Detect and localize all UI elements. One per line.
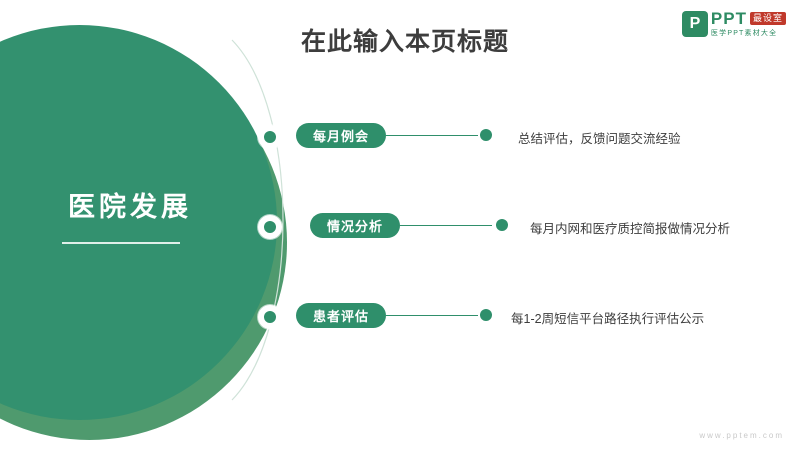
endpoint-dot-icon: [480, 309, 492, 321]
node-marker-icon: [258, 125, 282, 149]
item-description: 每1-2周短信平台路径执行评估公示: [511, 308, 704, 327]
item-pill-label[interactable]: 患者评估: [296, 303, 386, 328]
item-description: 总结评估，反馈问题交流经验: [518, 128, 681, 147]
hero-label: 医院发展: [20, 185, 240, 224]
node-marker-icon: [258, 305, 282, 329]
logo-mark-icon: P: [682, 11, 708, 37]
hero-underline: [62, 242, 180, 244]
footer-watermark: www.pptem.com: [699, 431, 784, 440]
logo-badge: 最设室: [750, 12, 786, 25]
endpoint-dot-icon: [480, 129, 492, 141]
connector-line: [386, 315, 478, 316]
page-title: 在此输入本页标题: [255, 22, 555, 58]
slide-canvas: 医院发展 在此输入本页标题 P PPT 最设室 医学PPT素材大全 每月例会 总…: [0, 0, 800, 450]
brand-logo: P PPT 最设室 医学PPT素材大全: [682, 10, 786, 37]
connector-line: [400, 225, 492, 226]
connector-line: [386, 135, 478, 136]
endpoint-dot-icon: [496, 219, 508, 231]
item-pill-label[interactable]: 每月例会: [296, 123, 386, 148]
item-description: 每月内网和医疗质控简报做情况分析: [530, 218, 730, 237]
node-marker-icon: [258, 215, 282, 239]
logo-subtitle: 医学PPT素材大全: [711, 30, 786, 37]
logo-name: PPT: [711, 10, 747, 27]
item-pill-label[interactable]: 情况分析: [310, 213, 400, 238]
